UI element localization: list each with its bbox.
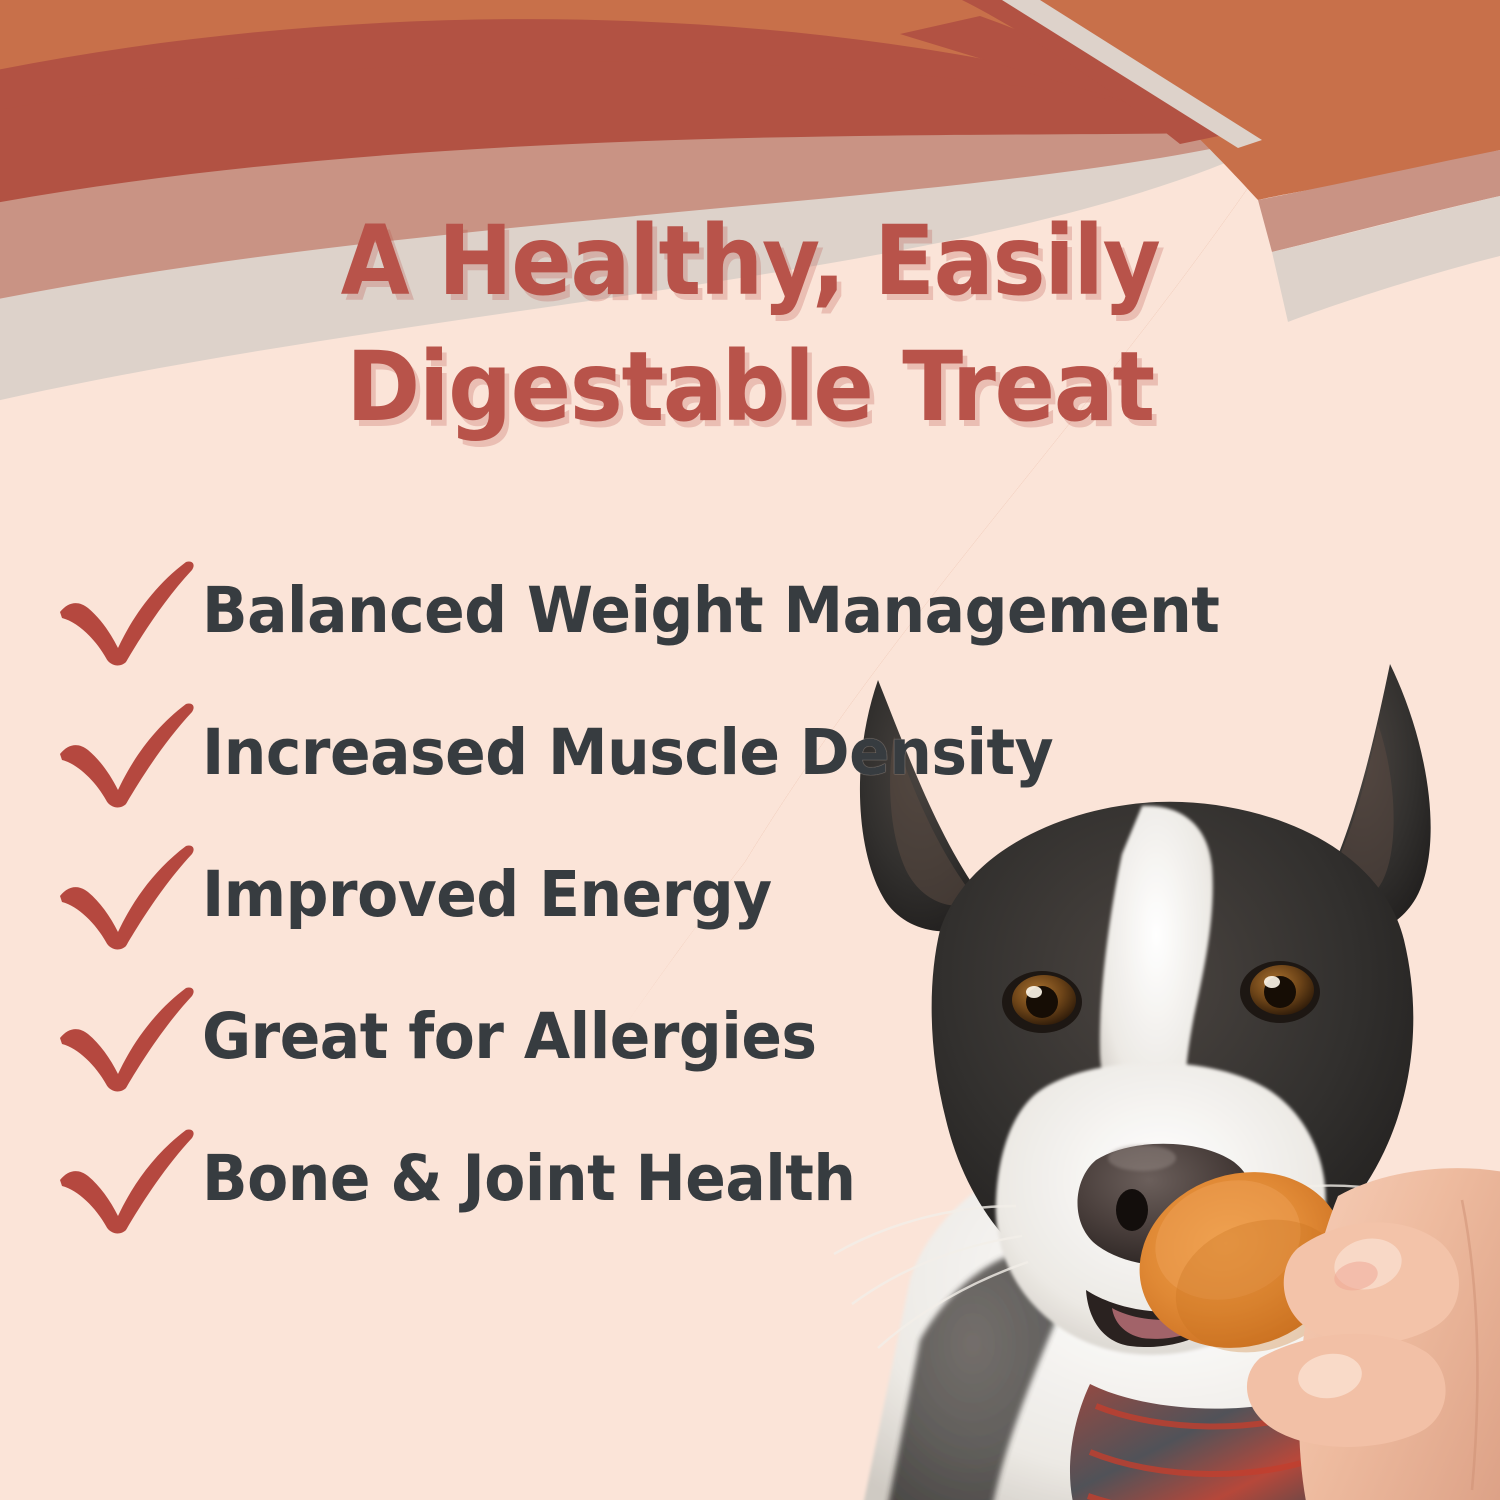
check-icon (52, 698, 202, 808)
infographic-canvas: A Healthy, Easily Digestable Treat (0, 0, 1500, 1500)
check-icon (52, 556, 202, 666)
check-icon (52, 982, 202, 1092)
benefit-label: Bone & Joint Health (202, 1144, 856, 1214)
benefit-label: Balanced Weight Management (202, 576, 1219, 646)
benefit-label: Improved Energy (202, 860, 772, 930)
benefit-label: Increased Muscle Density (202, 718, 1053, 788)
list-item: Bone & Joint Health (0, 1108, 1400, 1250)
check-icon (52, 1124, 202, 1234)
check-icon (52, 840, 202, 950)
list-item: Increased Muscle Density (0, 682, 1400, 824)
benefits-checklist: Balanced Weight Management Increased Mus… (0, 540, 1400, 1250)
benefit-label: Great for Allergies (202, 1002, 817, 1072)
list-item: Great for Allergies (0, 966, 1400, 1108)
list-item: Improved Energy (0, 824, 1400, 966)
list-item: Balanced Weight Management (0, 540, 1400, 682)
